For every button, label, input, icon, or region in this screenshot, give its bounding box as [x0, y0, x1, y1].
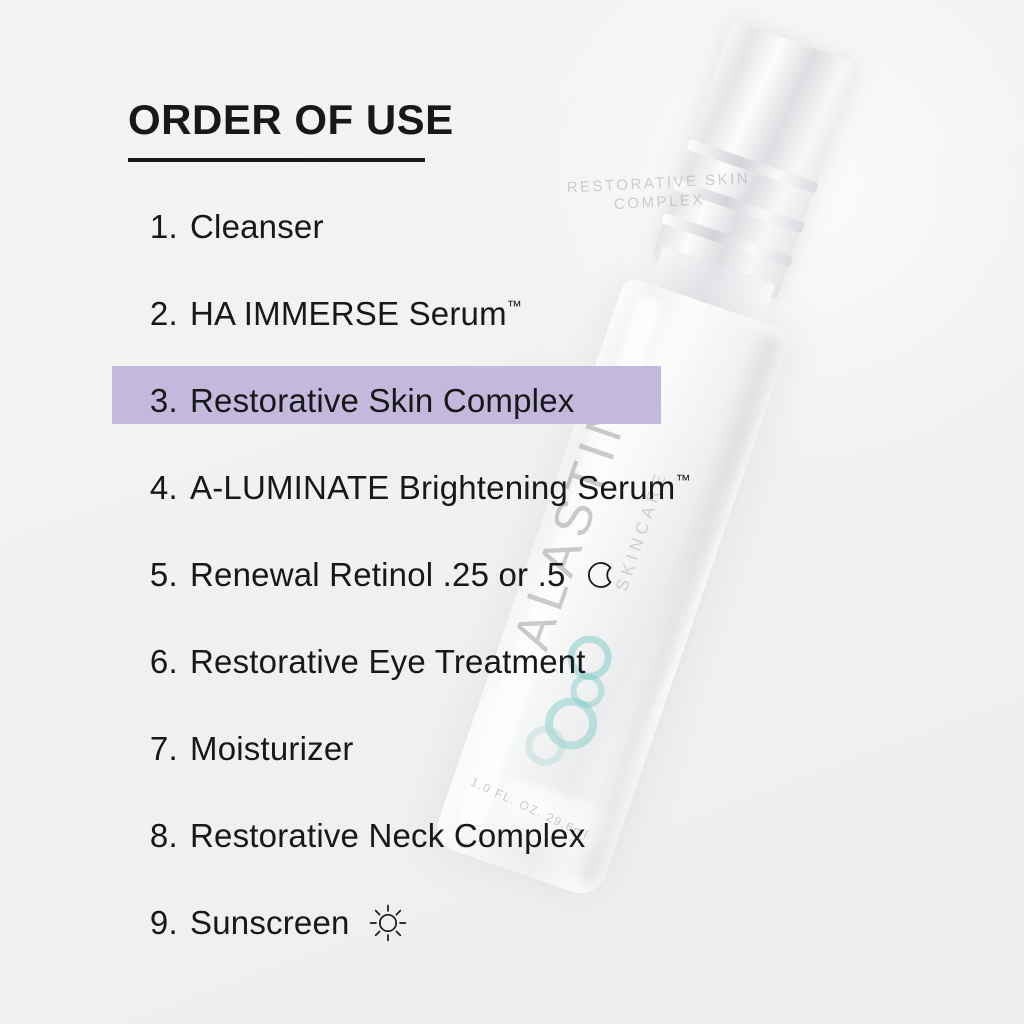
list-item: 1.Cleanser: [0, 183, 1024, 270]
step-number: 6.: [0, 643, 178, 681]
list-item: 2.HA IMMERSE Serum™: [0, 270, 1024, 357]
step-number: 3.: [0, 382, 178, 420]
step-number: 7.: [0, 730, 178, 768]
content-layer: ORDER OF USE 1.Cleanser2.HA IMMERSE Seru…: [0, 0, 1024, 1024]
list-item: 4.A-LUMINATE Brightening Serum™: [0, 444, 1024, 531]
list-item: 9.Sunscreen: [0, 879, 1024, 966]
list-item: 5.Renewal Retinol .25 or .5: [0, 531, 1024, 618]
infographic-canvas: RESTORATIVE SKIN COMPLEX ALASTIN SKINCAR…: [0, 0, 1024, 1024]
list-item: 7.Moisturizer: [0, 705, 1024, 792]
step-label-text: Restorative Neck Complex: [190, 817, 585, 854]
step-label-text: Restorative Skin Complex: [190, 382, 574, 419]
step-number: 9.: [0, 904, 178, 942]
order-of-use-list: 1.Cleanser2.HA IMMERSE Serum™3.Restorati…: [0, 183, 1024, 966]
step-label: HA IMMERSE Serum™: [190, 295, 522, 333]
step-label-text: A-LUMINATE Brightening Serum: [190, 469, 676, 506]
step-number: 1.: [0, 208, 178, 246]
step-label: A-LUMINATE Brightening Serum™: [190, 469, 691, 507]
sun-icon: [368, 903, 408, 943]
list-item: 6.Restorative Eye Treatment: [0, 618, 1024, 705]
step-number: 2.: [0, 295, 178, 333]
title-divider: [128, 158, 425, 162]
step-label-text: Moisturizer: [190, 730, 354, 767]
step-label-text: Renewal Retinol .25 or .5: [190, 556, 566, 593]
trademark-symbol: ™: [676, 472, 692, 489]
step-label: Restorative Neck Complex: [190, 817, 585, 855]
step-label-text: Restorative Eye Treatment: [190, 643, 586, 680]
heading-block: ORDER OF USE: [128, 96, 828, 162]
step-number: 5.: [0, 556, 178, 594]
step-label-text: Cleanser: [190, 208, 324, 245]
step-label-text: HA IMMERSE Serum: [190, 295, 507, 332]
step-label: Renewal Retinol .25 or .5: [190, 556, 566, 594]
list-item: 3.Restorative Skin Complex: [0, 357, 1024, 444]
step-label: Moisturizer: [190, 730, 354, 768]
step-label: Cleanser: [190, 208, 324, 246]
step-number: 4.: [0, 469, 178, 507]
list-item: 8.Restorative Neck Complex: [0, 792, 1024, 879]
trademark-symbol: ™: [507, 298, 523, 315]
step-number: 8.: [0, 817, 178, 855]
step-label: Restorative Eye Treatment: [190, 643, 586, 681]
step-label: Restorative Skin Complex: [190, 382, 574, 420]
step-label-text: Sunscreen: [190, 904, 350, 941]
step-label: Sunscreen: [190, 904, 350, 942]
moon-icon: [584, 556, 622, 594]
page-title: ORDER OF USE: [128, 96, 828, 144]
